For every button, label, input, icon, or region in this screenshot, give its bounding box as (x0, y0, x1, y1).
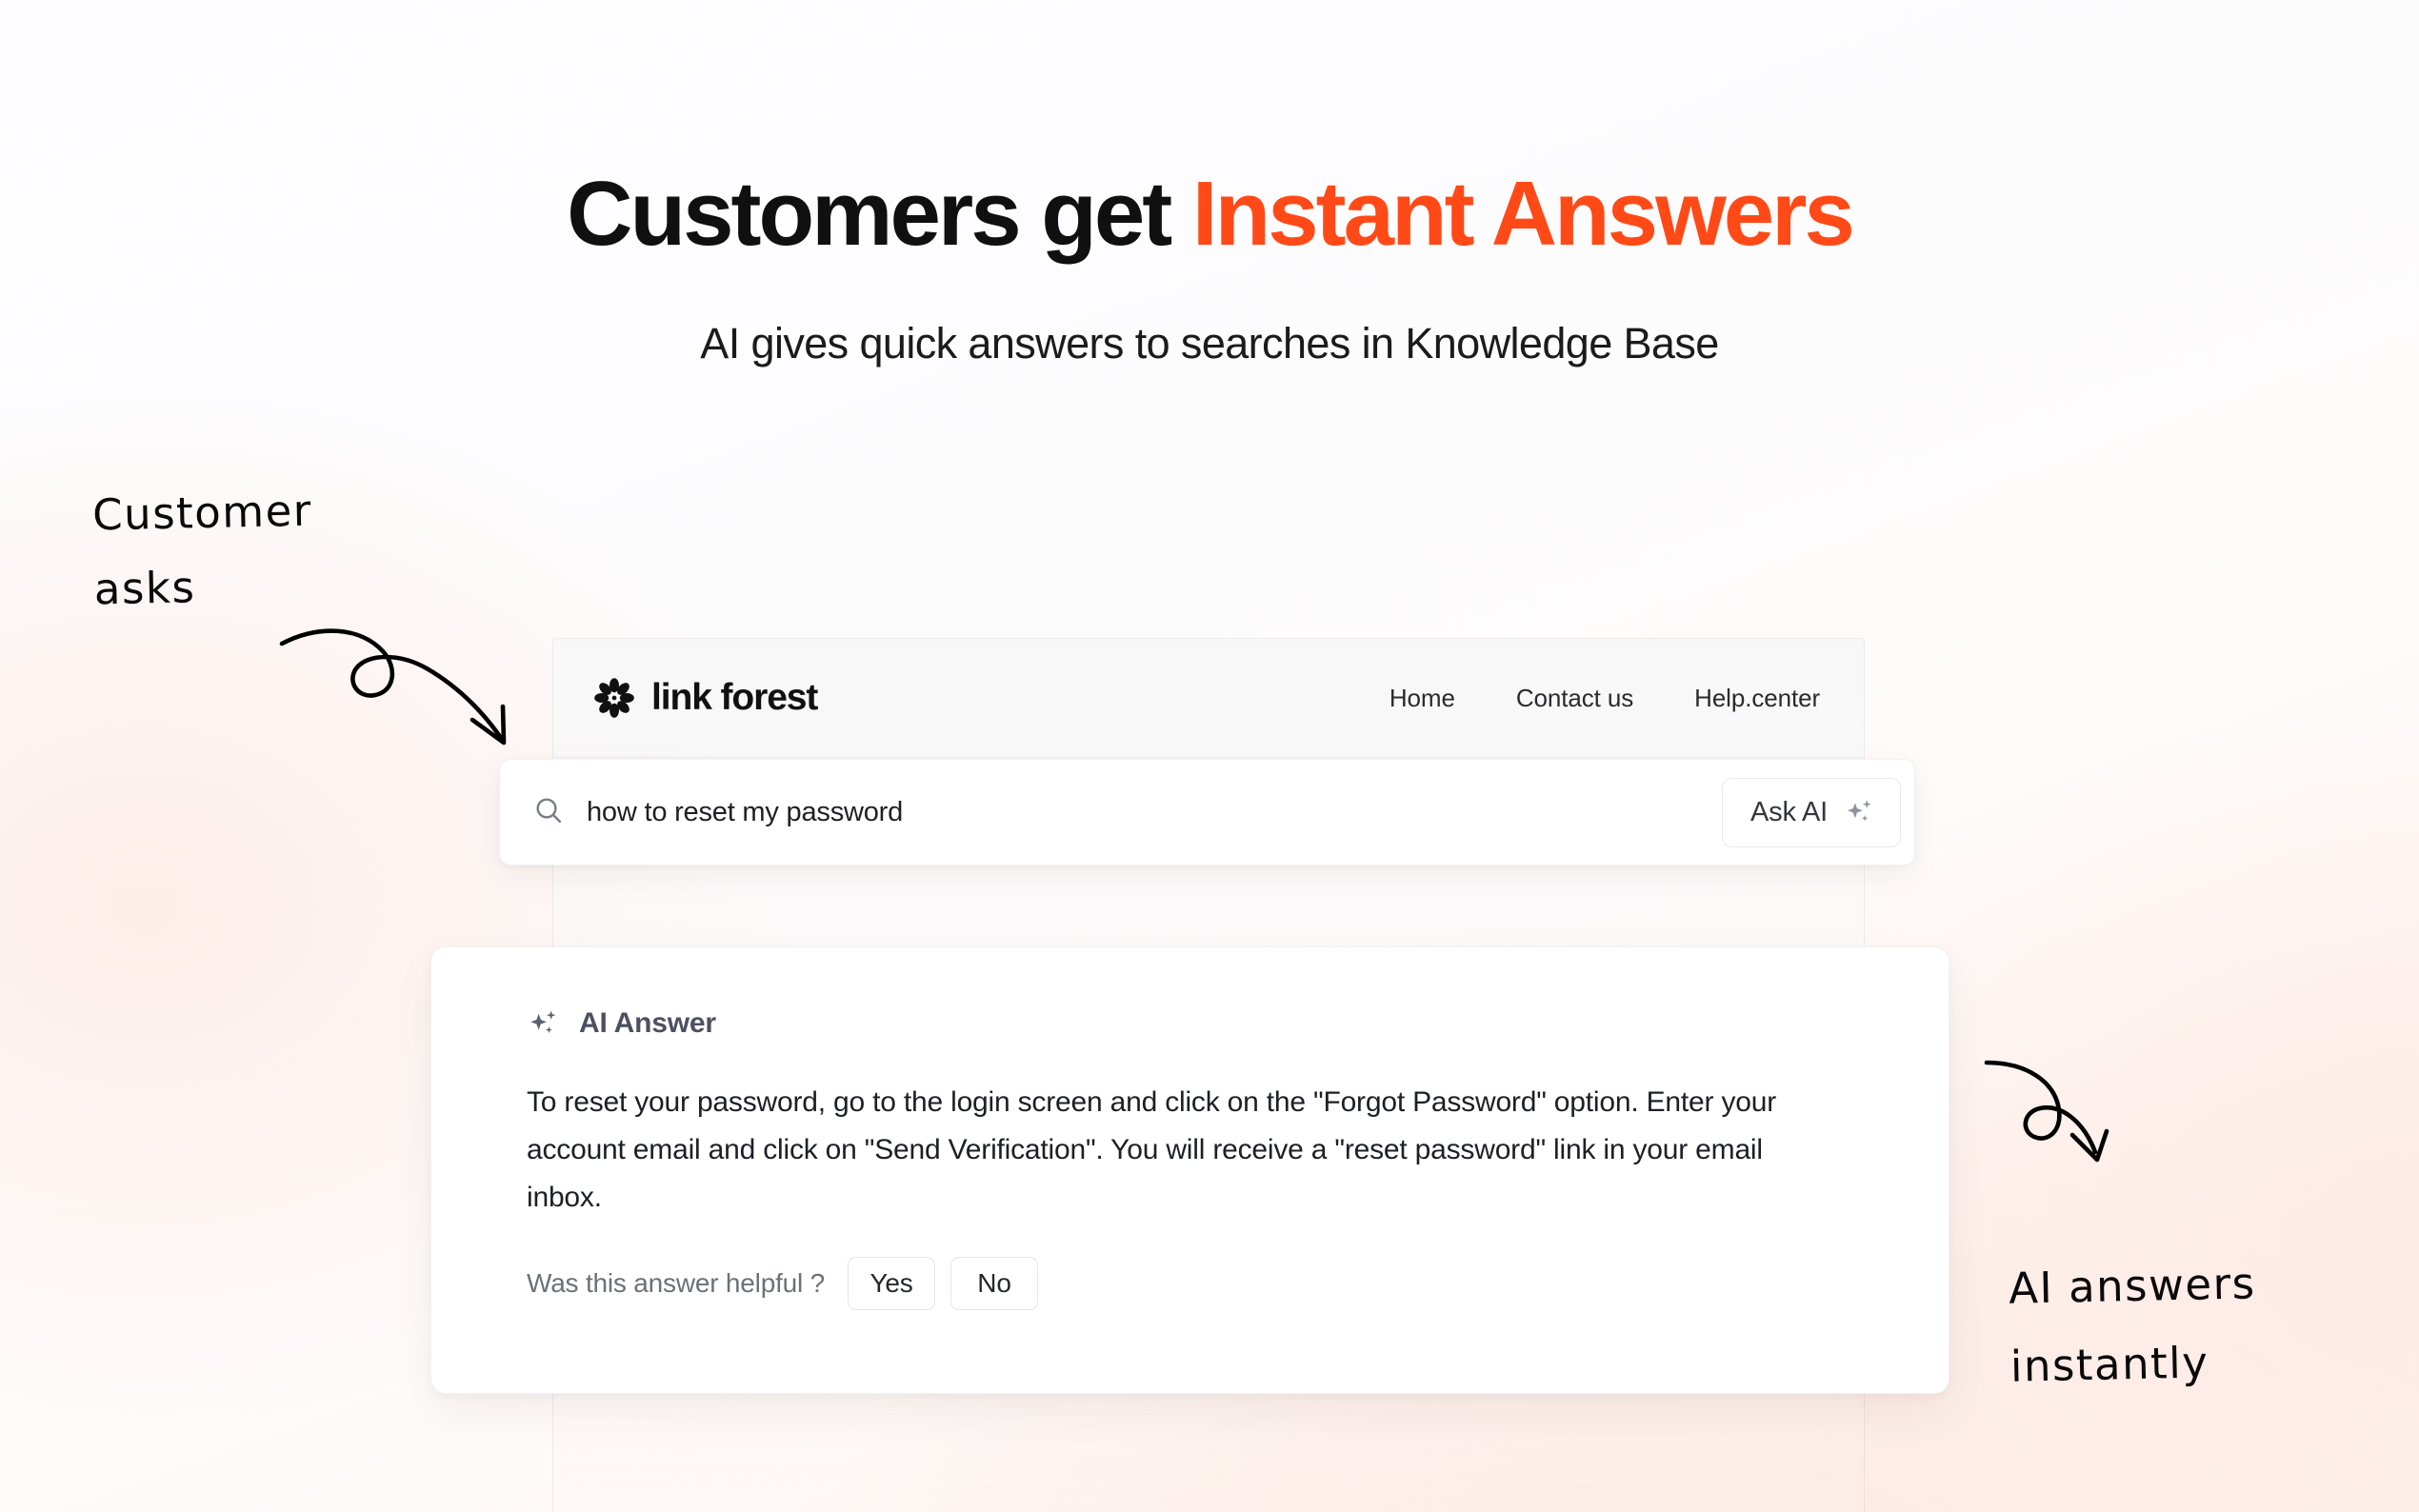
ai-answer-feedback: Was this answer helpful ? Yes No (527, 1257, 1888, 1310)
ai-answer-card: AI Answer To reset your password, go to … (430, 946, 1949, 1394)
search-icon (532, 794, 565, 831)
annotation-left-line2: asks (93, 562, 196, 614)
nav-item-home[interactable]: Home (1389, 684, 1455, 713)
annotation-right-line1: AI answers (2009, 1258, 2256, 1313)
poster-canvas: Customers get Instant Answers AI gives q… (0, 0, 2419, 1512)
page-subtitle: AI gives quick answers to searches in Kn… (0, 319, 2419, 368)
help-center-nav: Home Contact us Help.center (1389, 684, 1820, 713)
headline-accent: Instant Answers (1192, 163, 1852, 265)
nav-item-contact-us[interactable]: Contact us (1516, 684, 1633, 713)
search-bar[interactable]: how to reset my password Ask AI (499, 759, 1915, 865)
ai-answer-text: To reset your password, go to the login … (527, 1079, 1793, 1222)
feedback-question: Was this answer helpful ? (527, 1268, 825, 1299)
ai-answer-title: AI Answer (579, 1007, 716, 1040)
annotation-right-line2: instantly (2009, 1337, 2209, 1391)
feedback-yes-button[interactable]: Yes (848, 1257, 935, 1310)
help-center-header: link forest Home Contact us Help.center (553, 639, 1864, 758)
ai-answer-header: AI Answer (527, 1006, 1888, 1041)
nav-item-help-center[interactable]: Help.center (1694, 684, 1820, 713)
brand-logo[interactable]: link forest (593, 677, 817, 719)
annotation-ai-answers-instantly: AI answersinstantly (2008, 1244, 2258, 1405)
search-input[interactable]: how to reset my password (587, 797, 1722, 828)
sparkle-icon (1844, 796, 1876, 828)
brand-name: link forest (651, 677, 817, 719)
ask-ai-button[interactable]: Ask AI (1722, 778, 1901, 847)
sparkle-icon (527, 1006, 561, 1041)
ask-ai-label: Ask AI (1750, 797, 1828, 828)
annotation-left-line1: Customer (92, 486, 313, 541)
feedback-no-button[interactable]: No (950, 1257, 1038, 1310)
page-title: Customers get Instant Answers (0, 168, 2419, 261)
flower-icon (593, 677, 635, 719)
headline-plain: Customers get (567, 163, 1192, 265)
annotation-customer-asks: Customerasks (91, 474, 314, 627)
